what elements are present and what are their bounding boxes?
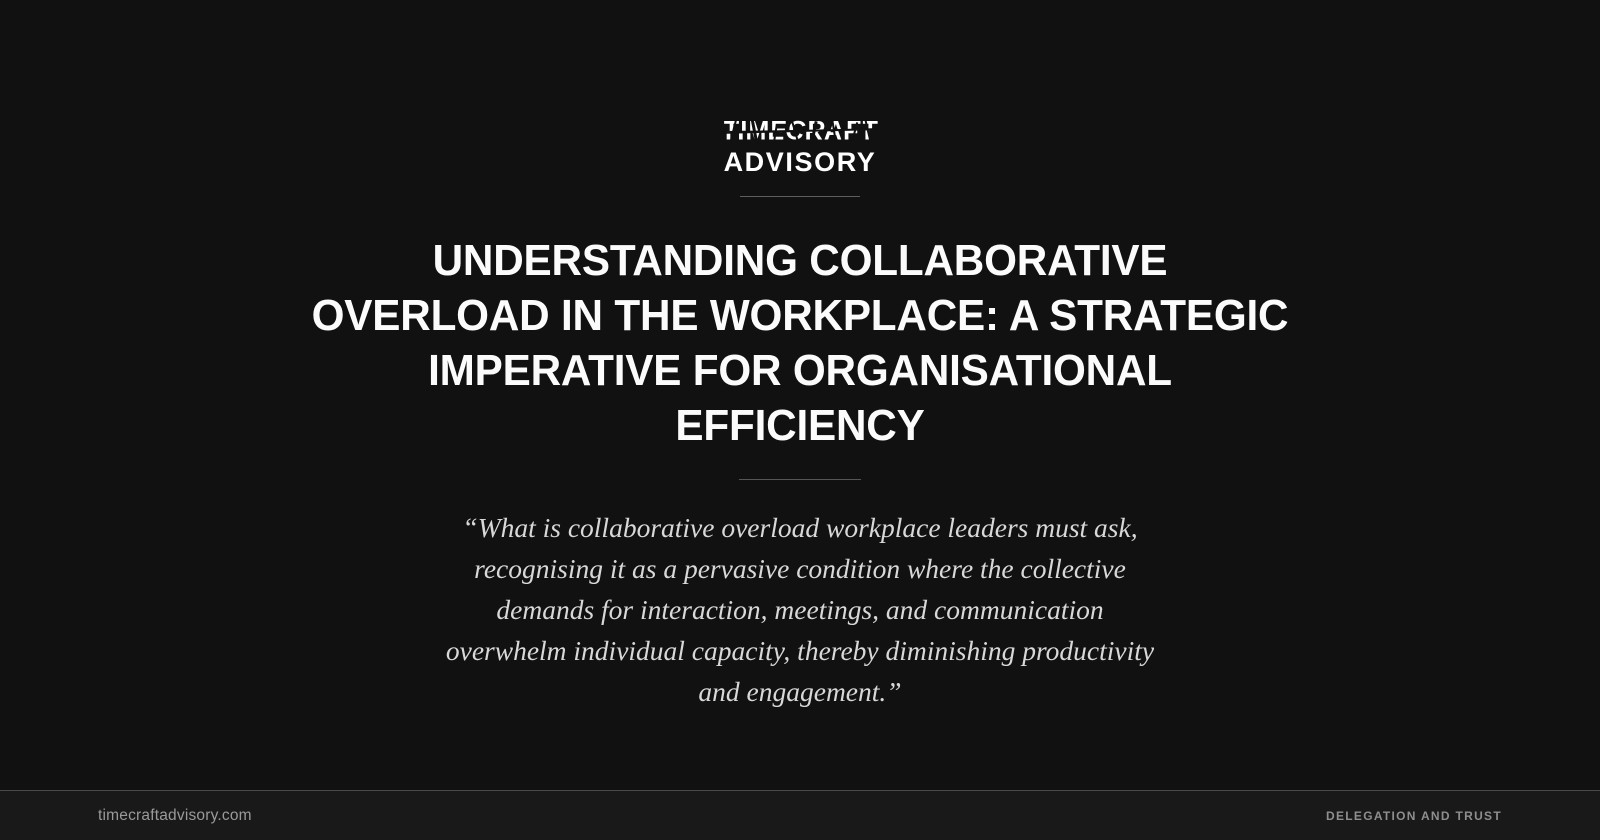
divider-under-title [739, 479, 861, 480]
brand-wordmark-primary-wrap: TIMECRAFT TIMECRAFT TIMECRAFT [722, 118, 877, 144]
brand-logo: TIMECRAFT TIMECRAFT TIMECRAFT ADVISORY [722, 118, 877, 176]
footer-section-label: DELEGATION AND TRUST [1326, 809, 1502, 823]
pull-quote: “What is collaborative overload workplac… [440, 507, 1160, 712]
slide-footer: timecraftadvisory.com DELEGATION AND TRU… [0, 790, 1600, 840]
slide-content: TIMECRAFT TIMECRAFT TIMECRAFT ADVISORY U… [0, 0, 1600, 790]
brand-wordmark-primary: TIMECRAFT TIMECRAFT TIMECRAFT [722, 119, 877, 144]
brand-wordmark-secondary: ADVISORY [724, 149, 877, 176]
divider-under-logo [740, 196, 860, 197]
presentation-slide: TIMECRAFT TIMECRAFT TIMECRAFT ADVISORY U… [0, 0, 1600, 840]
footer-website: timecraftadvisory.com [98, 807, 252, 825]
page-title: Understanding Collaborative Overload in … [310, 233, 1289, 453]
